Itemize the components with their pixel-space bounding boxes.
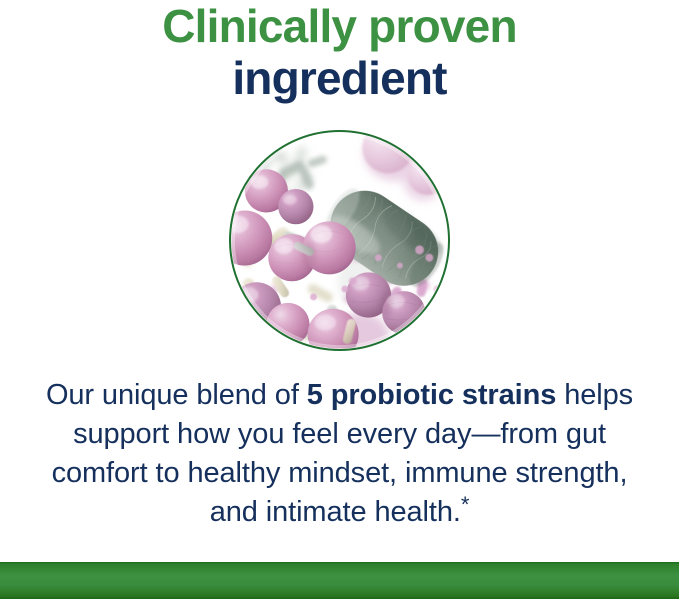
footnote-asterisk: * <box>461 492 469 517</box>
bacteria-illustration <box>231 132 448 349</box>
promo-panel: Clinically proven ingredient <box>0 0 679 599</box>
bottom-green-bar <box>0 562 679 599</box>
description-part-1: Our unique blend of <box>46 379 307 411</box>
page-title: Clinically proven ingredient <box>0 0 679 104</box>
description-highlight: 5 probiotic strains <box>307 379 557 411</box>
description-text: Our unique blend of 5 probiotic strains … <box>36 376 643 532</box>
headline-line-2: ingredient <box>0 52 679 104</box>
headline-line-1: Clinically proven <box>0 0 679 52</box>
probiotic-bacteria-image <box>229 130 450 351</box>
